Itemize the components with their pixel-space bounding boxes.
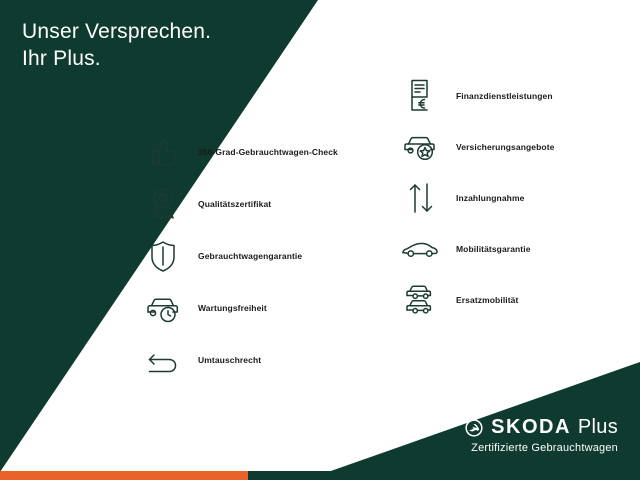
feature-item-replacement: Ersatzmobilität (398, 274, 638, 325)
feature-item-certificate: Qualitätszertifikat (140, 178, 380, 230)
feature-label: Ersatzmobilität (456, 295, 518, 305)
feature-item-financing: Finanzdienstleistungen (398, 70, 638, 121)
feature-label: Umtauschrecht (198, 355, 261, 365)
feature-label: Inzahlungnahme (456, 193, 524, 203)
feature-label: Finanzdienstleistungen (456, 91, 553, 101)
quality-seal-icon (140, 181, 186, 227)
return-arrow-icon (140, 337, 186, 383)
page-title: Unser Versprechen. Ihr Plus. (22, 18, 211, 72)
logo-suffix: Plus (578, 416, 618, 439)
headline-line-2: Ihr Plus. (22, 45, 211, 72)
two-cars-icon (398, 277, 444, 323)
feature-item-check: 360-Grad-Gebrauchtwagen-Check (140, 126, 380, 178)
car-star-icon (398, 124, 444, 170)
headline-line-1: Unser Versprechen. (22, 20, 211, 43)
thumbs-up-icon (140, 129, 186, 175)
feature-label: Wartungsfreiheit (198, 303, 267, 313)
skoda-plus-logo: SKODA Plus Zertifizierte Gebrauchtwagen (464, 416, 618, 454)
orange-bottom-bar (0, 471, 248, 480)
up-down-arrows-icon (398, 175, 444, 221)
feature-label: Gebrauchtwagengarantie (198, 251, 302, 261)
feature-item-tradein: Inzahlungnahme (398, 172, 638, 223)
green-bottom-bar (248, 471, 640, 480)
feature-label: 360-Grad-Gebrauchtwagen-Check (198, 147, 338, 157)
document-euro-icon (398, 73, 444, 119)
feature-item-mobility: Mobilitätsgarantie (398, 223, 638, 274)
skoda-winged-arrow-icon (464, 418, 484, 438)
feature-label: Qualitätszertifikat (198, 199, 271, 209)
feature-item-warranty: Gebrauchtwagengarantie (140, 230, 380, 282)
logo-tagline: Zertifizierte Gebrauchtwagen (464, 442, 618, 454)
feature-item-insurance: Versicherungsangebote (398, 121, 638, 172)
feature-list-right: Finanzdienstleistungen Versicherungsange… (398, 70, 638, 325)
feature-label: Mobilitätsgarantie (456, 244, 531, 254)
logo-brand: SKODA (491, 416, 571, 439)
feature-item-maintenance: Wartungsfreiheit (140, 282, 380, 334)
feature-item-return: Umtauschrecht (140, 334, 380, 386)
car-silhouette-icon (398, 226, 444, 272)
feature-list-left: 360-Grad-Gebrauchtwagen-Check Qualitätsz… (140, 126, 380, 386)
logo-row: SKODA Plus (464, 416, 618, 439)
feature-label: Versicherungsangebote (456, 142, 554, 152)
shield-icon (140, 233, 186, 279)
car-service-clock-icon (140, 285, 186, 331)
